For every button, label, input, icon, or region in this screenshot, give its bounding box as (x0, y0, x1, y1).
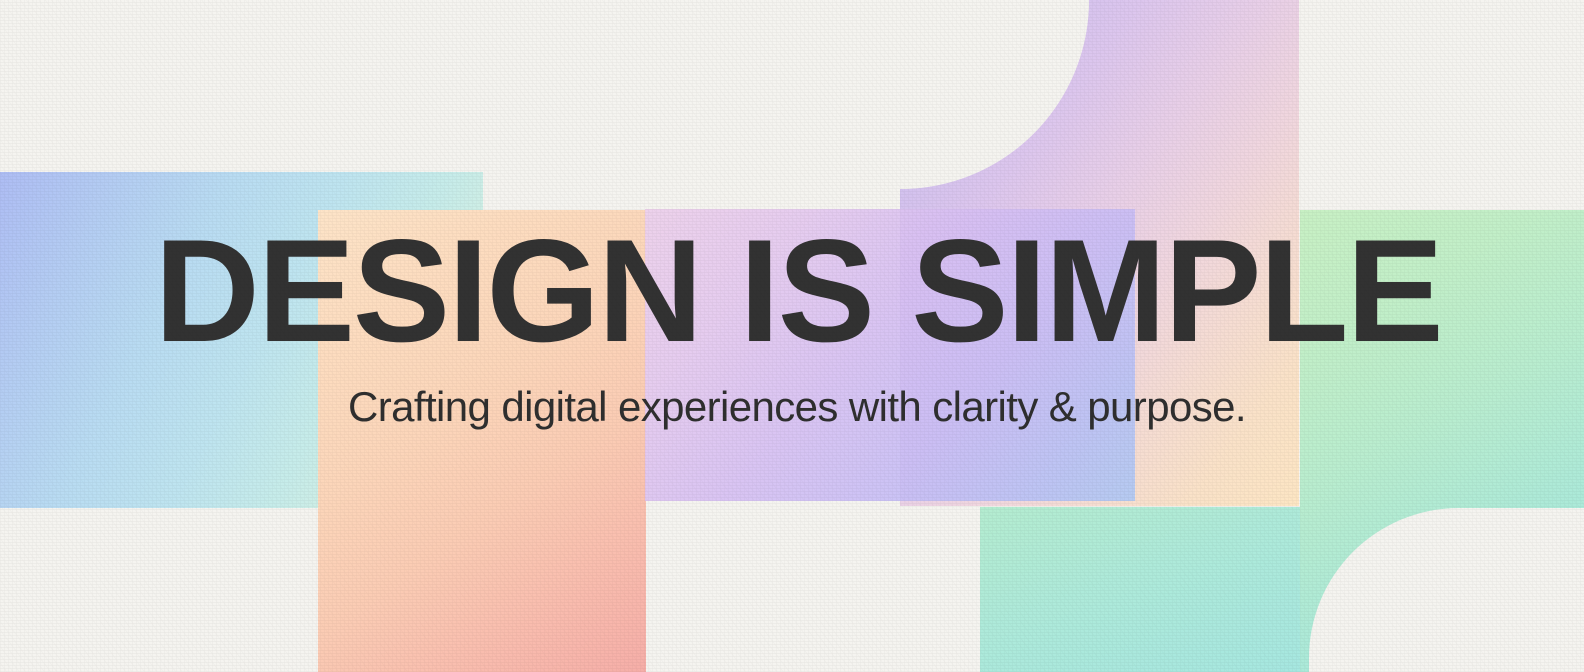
lavender-translucent-overlay (645, 209, 1135, 501)
mint-gradient-block-bottom (980, 507, 1300, 672)
hero-banner: DESIGN IS SIMPLE Crafting digital experi… (0, 0, 1584, 672)
peach-gradient-block (318, 210, 646, 672)
